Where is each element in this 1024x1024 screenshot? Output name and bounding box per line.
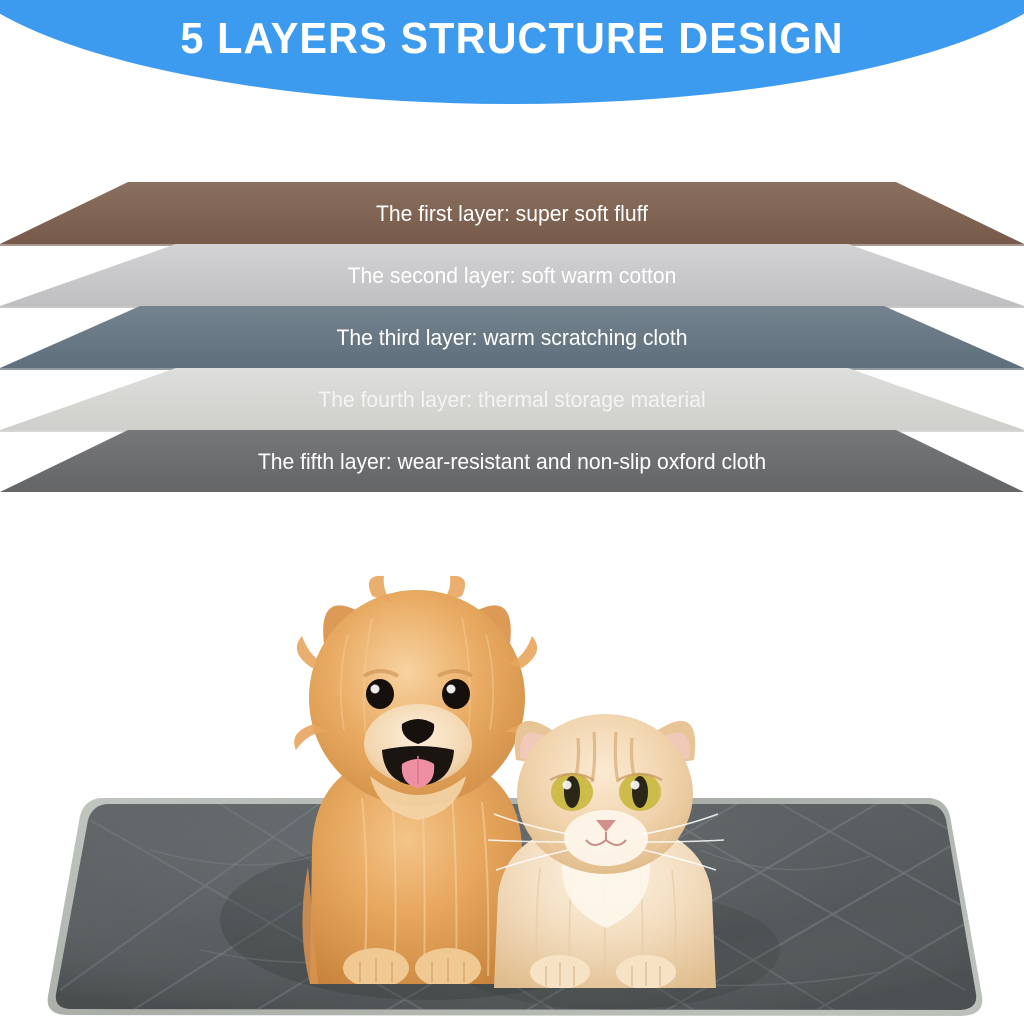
layer-label-3: The third layer: warm scratching cloth <box>20 306 1003 370</box>
longhair-cat <box>460 688 750 988</box>
product-photo <box>0 520 1024 1024</box>
layer-stack: The first layer: super soft fluff The se… <box>0 182 1024 512</box>
layer-item-1: The first layer: super soft fluff <box>0 182 1024 246</box>
layer-item-5: The fifth layer: wear-resistant and non-… <box>0 430 1024 494</box>
header-banner: 5 LAYERS STRUCTURE DESIGN <box>0 0 1024 104</box>
layer-item-3: The third layer: warm scratching cloth <box>0 306 1024 370</box>
layer-item-2: The second layer: soft warm cotton <box>0 244 1024 308</box>
layer-label-5: The fifth layer: wear-resistant and non-… <box>20 430 1003 494</box>
infographic-page: 5 LAYERS STRUCTURE DESIGN The first laye… <box>0 0 1024 1024</box>
page-title: 5 LAYERS STRUCTURE DESIGN <box>31 0 994 78</box>
layer-label-2: The second layer: soft warm cotton <box>20 244 1003 308</box>
cat-illustration <box>460 688 750 988</box>
layer-label-1: The first layer: super soft fluff <box>20 182 1003 246</box>
layer-item-4: The fourth layer: thermal storage materi… <box>0 368 1024 432</box>
layer-label-4: The fourth layer: thermal storage materi… <box>20 368 1003 432</box>
